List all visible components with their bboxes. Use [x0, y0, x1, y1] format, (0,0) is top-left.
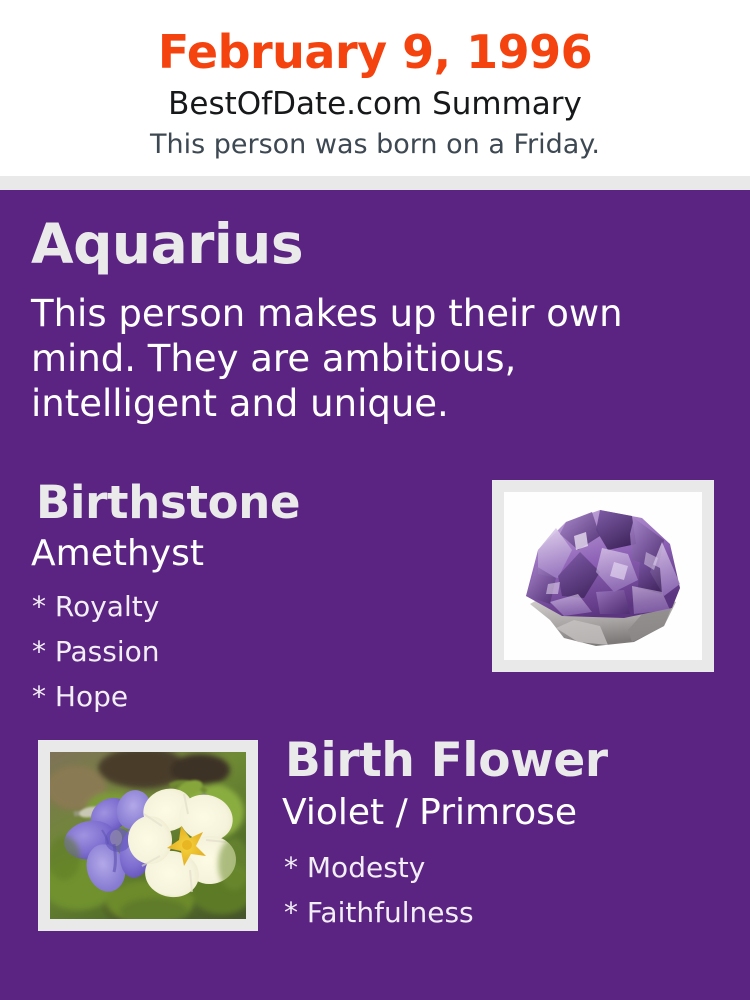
violet-primrose-svg — [50, 752, 246, 919]
birthday-summary-card: February 9, 1996 BestOfDate.com Summary … — [0, 0, 750, 1000]
birth-flower-image-frame — [38, 740, 258, 931]
list-item: * Royalty — [32, 584, 452, 629]
birthstone-heading: Birthstone — [36, 478, 300, 528]
birth-flower-heading: Birth Flower — [285, 735, 608, 787]
birth-flower-trait-list: * Modesty * Faithfulness — [284, 845, 724, 935]
birthstone-name: Amethyst — [31, 533, 204, 575]
amethyst-crystal-svg — [504, 492, 702, 660]
zodiac-sign-heading: Aquarius — [31, 214, 303, 274]
list-item: * Faithfulness — [284, 890, 724, 935]
list-item: * Passion — [32, 629, 452, 674]
zodiac-description: This person makes up their own mind. The… — [31, 291, 681, 426]
birthstone-image — [504, 492, 702, 660]
birth-weekday-note: This person was born on a Friday. — [0, 128, 750, 162]
card-header: February 9, 1996 BestOfDate.com Summary … — [0, 0, 750, 176]
birth-flower-name: Violet / Primrose — [282, 792, 577, 834]
site-name-subtitle: BestOfDate.com Summary — [0, 85, 750, 123]
list-item: * Modesty — [284, 845, 724, 890]
birth-flower-image — [50, 752, 246, 919]
list-item: * Hope — [32, 674, 452, 719]
violet-primrose-icon — [50, 752, 246, 919]
header-divider — [0, 176, 750, 190]
birthstone-trait-list: * Royalty * Passion * Hope — [32, 584, 452, 719]
amethyst-crystal-icon — [504, 492, 702, 660]
birthstone-image-frame — [492, 480, 714, 672]
page-title-date: February 9, 1996 — [0, 26, 750, 78]
details-panel: Aquarius This person makes up their own … — [0, 190, 750, 1000]
